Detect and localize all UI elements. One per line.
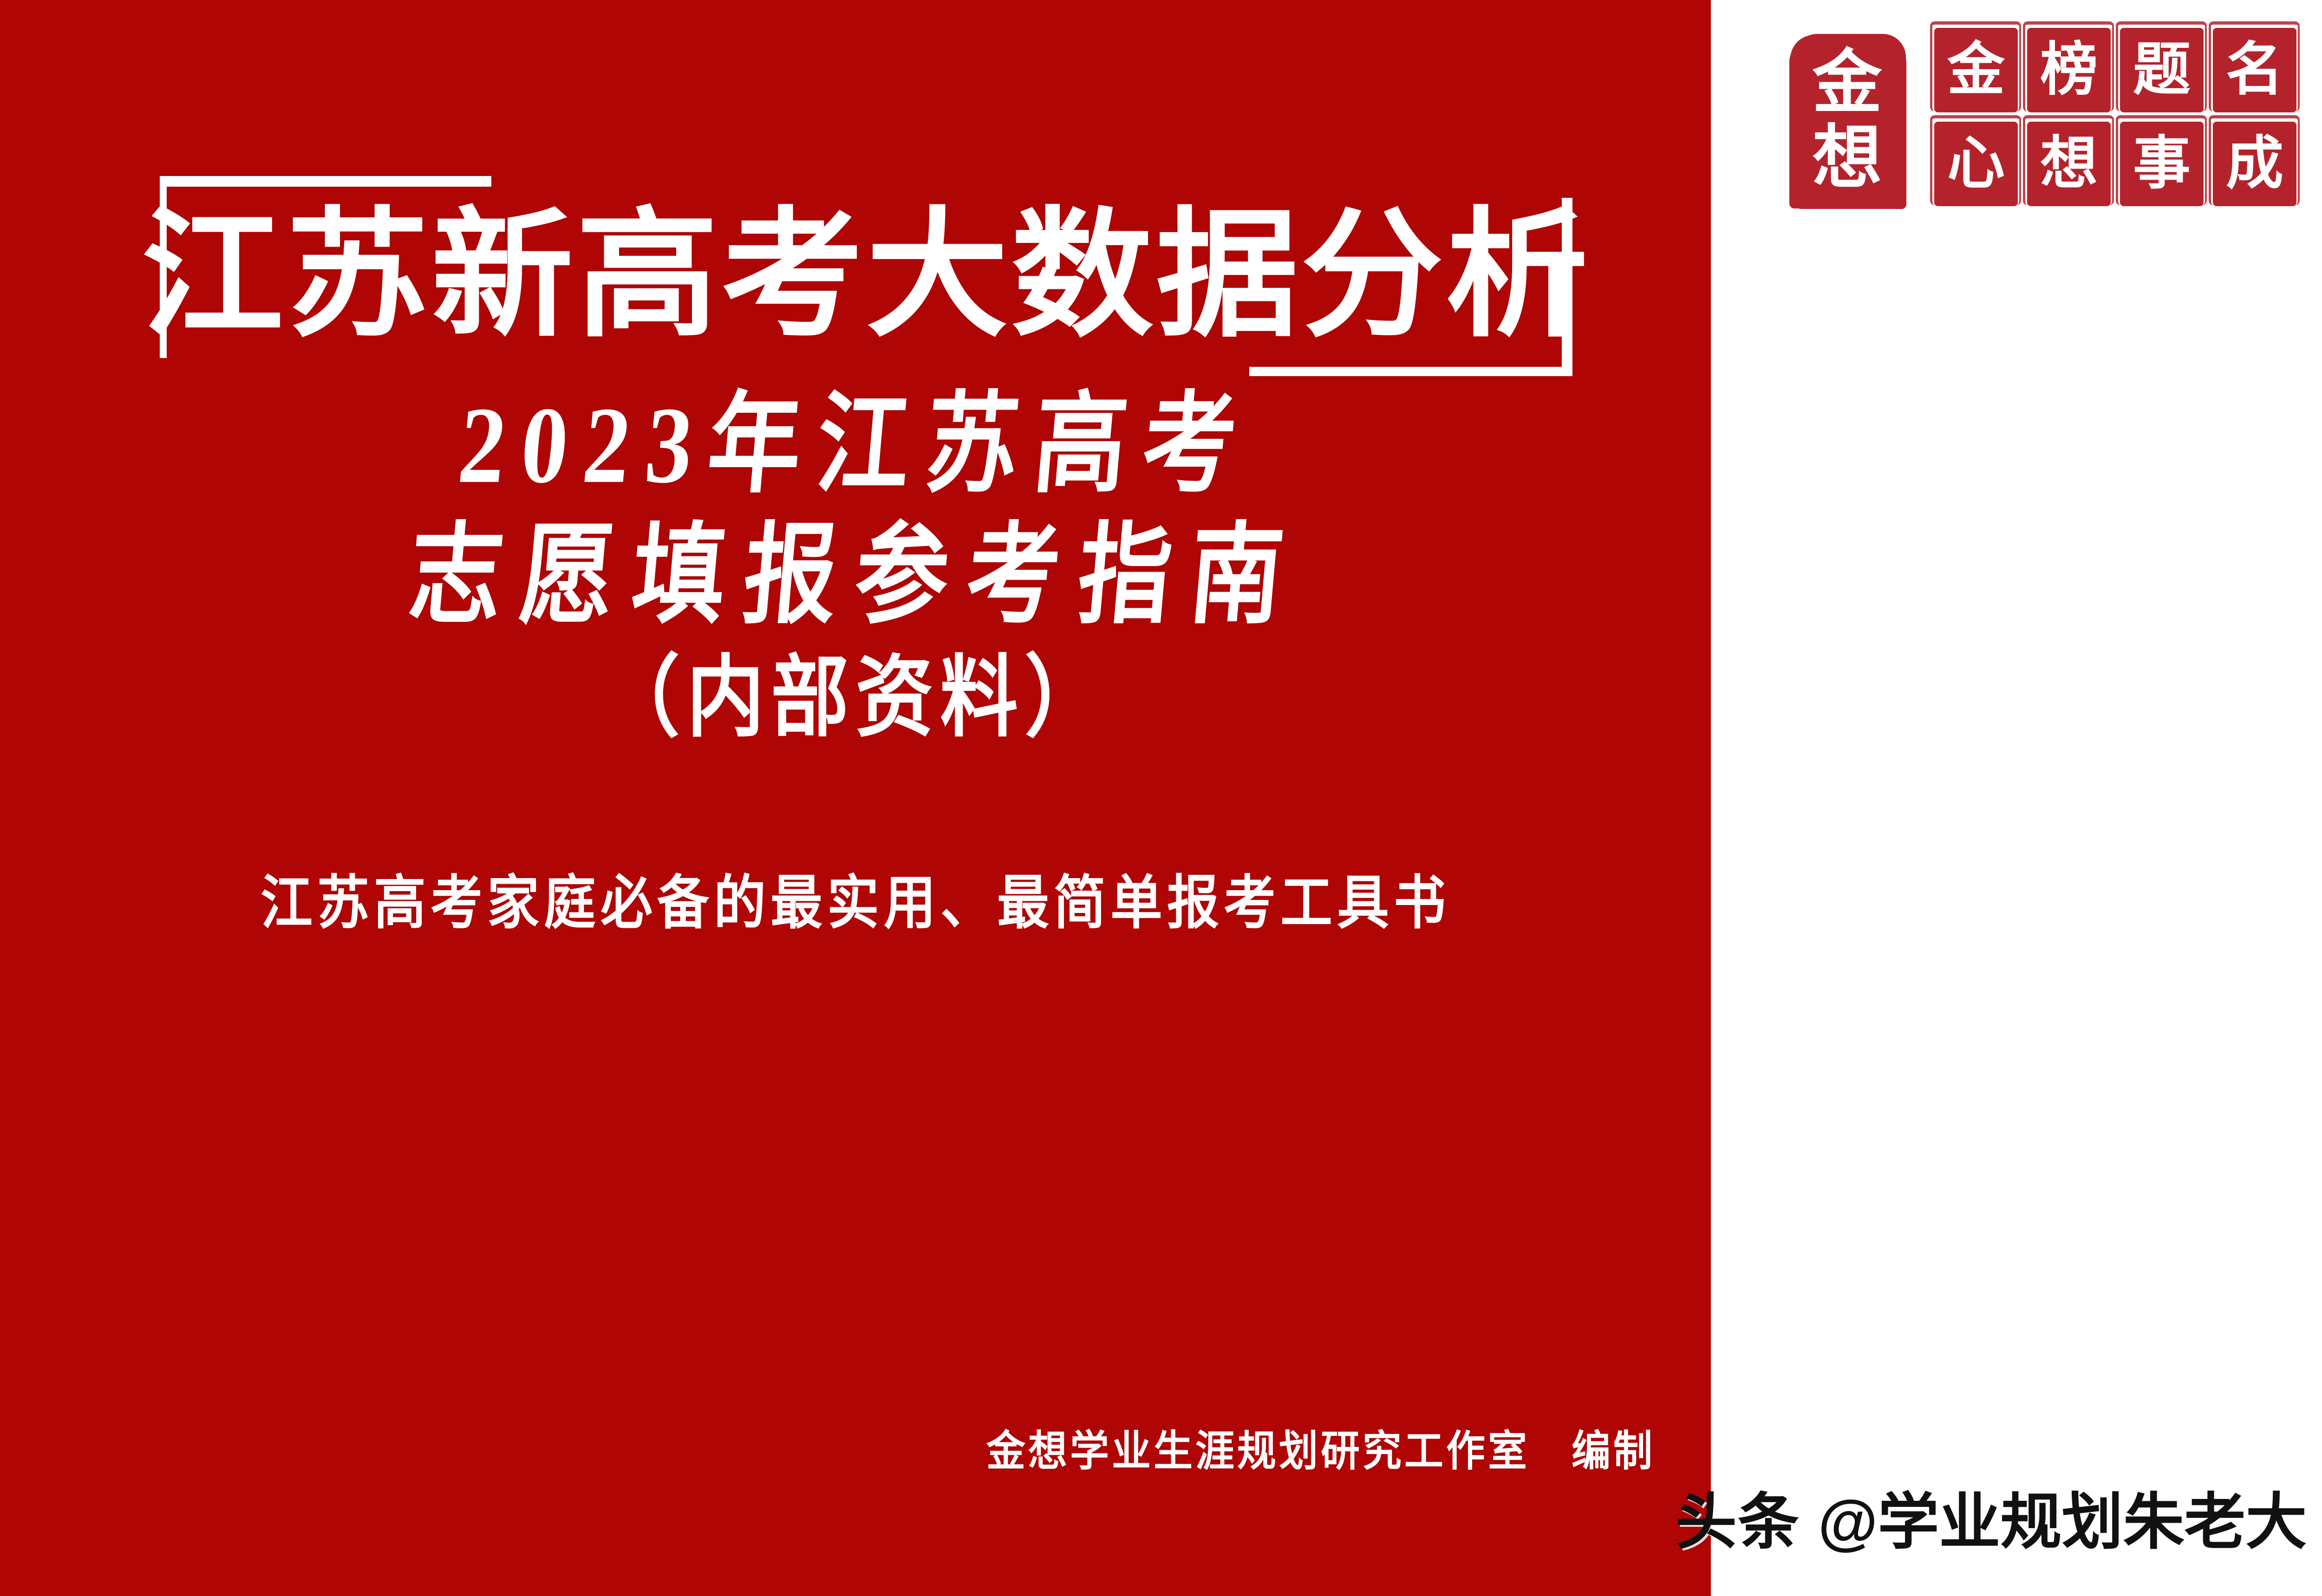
seal-cell: 榜 xyxy=(2027,28,2111,112)
watermark: 头条 @学业规划朱老大 xyxy=(1676,1492,2307,1553)
vertical-seal-char-top: 金 xyxy=(1812,46,1882,121)
seal-cell: 想 xyxy=(2027,122,2111,206)
subtitle-block: 2023年江苏高考 志愿填报参考指南 （内部资料） xyxy=(0,399,1711,737)
vertical-seal-char-bottom: 想 xyxy=(1812,121,1882,196)
footer-credit: 金想学业生涯规划研究工作室 编制 xyxy=(0,1431,1711,1473)
cover-page: 江苏新高考大数据分析 2023年江苏高考 志愿填报参考指南 （内部资料） 江苏高… xyxy=(0,0,2322,1596)
seal-cell: 题 xyxy=(2120,28,2204,112)
watermark-platform: 头条 xyxy=(1676,1488,1800,1556)
main-title: 江苏新高考大数据分析 xyxy=(153,183,1579,369)
seal-cell: 成 xyxy=(2213,122,2296,206)
seal-logo-area: 金 想 金 榜 题 名 心 想 事 成 xyxy=(1790,28,2310,214)
seal-cell: 金 xyxy=(1934,28,2018,112)
seal-phrase-grid: 金 榜 题 名 心 想 事 成 xyxy=(1934,28,2306,214)
tagline: 江苏高考家庭必备的最实用、最简单报考工具书 xyxy=(0,874,1711,932)
seal-cell: 事 xyxy=(2120,122,2204,206)
seal-cell: 心 xyxy=(1934,122,2018,206)
watermark-handle: @学业规划朱老大 xyxy=(1818,1488,2307,1556)
subtitle-line-internal: （内部资料） xyxy=(0,654,1711,743)
subtitle-line-year: 2023年江苏高考 xyxy=(0,391,1715,501)
seal-cell: 名 xyxy=(2213,28,2296,112)
vertical-seal-stamp: 金 想 xyxy=(1790,35,1904,207)
subtitle-line-guide: 志愿填报参考指南 xyxy=(0,522,1715,632)
